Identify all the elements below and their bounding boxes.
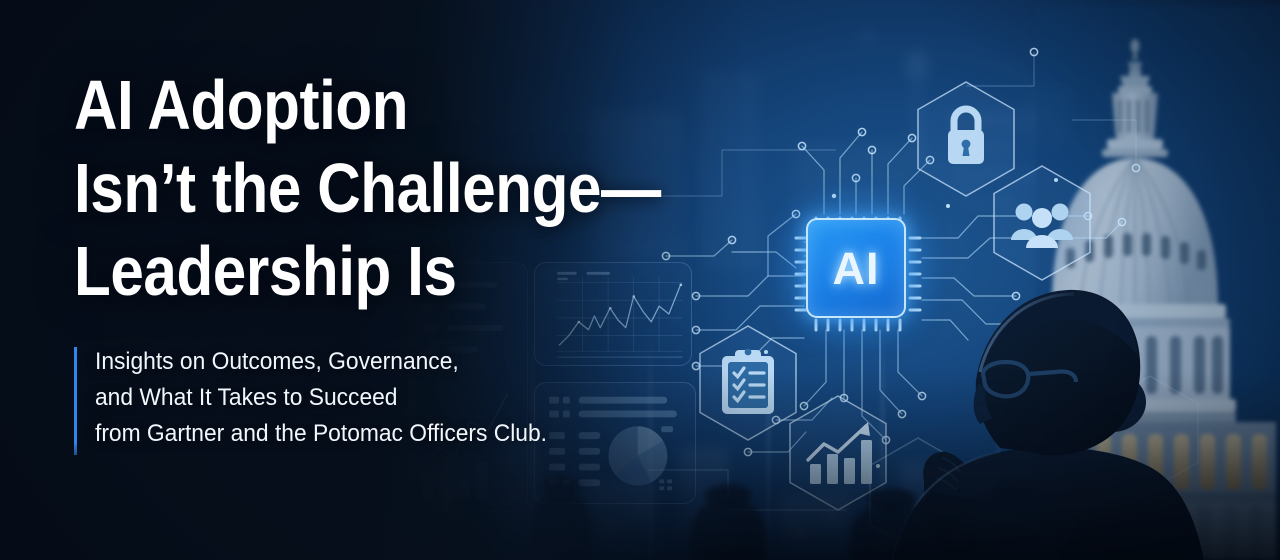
headline-block: AI Adoption Isn’t the Challenge— Leaders… xyxy=(74,64,774,313)
subtitle-line-3: from Gartner and the Potomac Officers Cl… xyxy=(95,416,547,452)
subtitle-line-1: Insights on Outcomes, Governance, xyxy=(95,344,547,380)
subtitle-line-2: and What It Takes to Succeed xyxy=(95,380,547,416)
headline-line-2: Isn’t the Challenge— xyxy=(74,147,676,230)
hero-banner: AI xyxy=(0,0,1280,560)
headline-line-3-accent: Leadership Is xyxy=(74,230,676,313)
subtitle-accent-bar xyxy=(74,347,77,455)
headline-line-1: AI Adoption xyxy=(74,64,676,147)
subtitle-block: Insights on Outcomes, Governance, and Wh… xyxy=(74,344,571,452)
